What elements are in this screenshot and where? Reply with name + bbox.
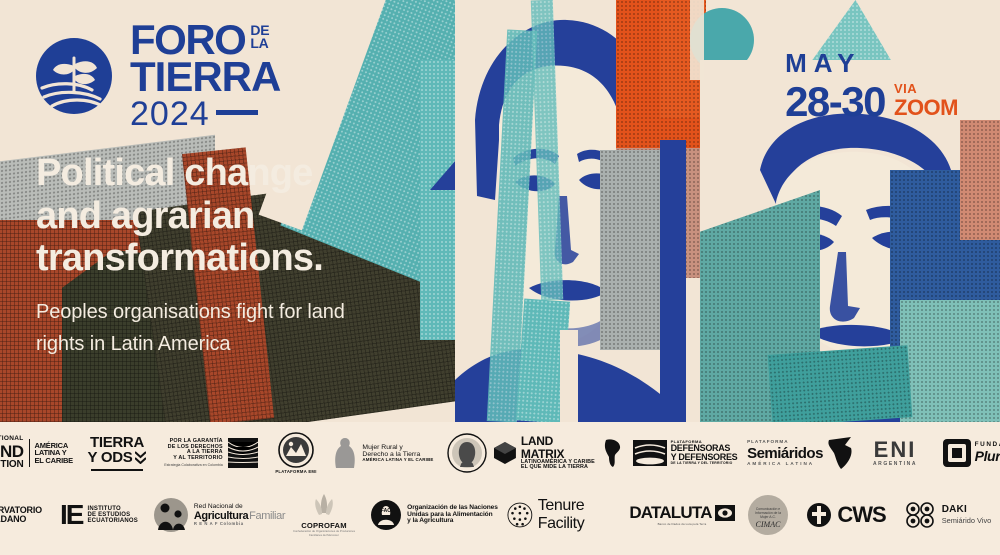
cube-icon [493, 441, 517, 465]
layered-land-icon [633, 440, 667, 466]
tenure-line-1: Tenure Facility [538, 497, 627, 533]
logo-dataluta: DATALUTA Banco de Dados da Luta pela Ter… [627, 504, 737, 525]
cws-line-1: CWS [837, 504, 885, 526]
partner-logo-bar: INTERNATIONAL LAND COALITION AMÉRICA LAT… [0, 422, 1000, 555]
logo-underline-dash [216, 110, 258, 115]
svg-text:CIMAC: CIMAC [756, 520, 782, 529]
logo-mujer-rural: Mujer Rural y Derecho a la Tierra AMÉRIC… [325, 435, 441, 471]
blue-column-mid [660, 140, 686, 422]
fao-emblem-icon: FAO [370, 499, 402, 531]
wheat-hands-icon [309, 493, 339, 521]
logo-land-matrix: LAND MATRIX LATINOAMÉRICA Y CARIBE EL QU… [493, 435, 625, 470]
svg-text:Mujer A.C.: Mujer A.C. [760, 515, 776, 519]
daki-line-1: DAKI [942, 505, 992, 515]
svg-text:FAO: FAO [381, 508, 391, 514]
logo-la: LA [250, 35, 268, 51]
fao-line-3: y la Agricultura [407, 518, 498, 525]
observatorio-line-2: CIUDADANO [0, 515, 42, 524]
logo-cws: CWS [799, 502, 893, 528]
logo-eni-argentina: ENI ARGENTINA [859, 439, 931, 467]
logo-de-la: DE LA [250, 22, 269, 51]
renaf-line-3: R E N A F Colombia [194, 522, 285, 526]
logo-fundacion-plurales: FUNDACIÓN Plurales [931, 439, 1000, 467]
teal-wedge-bottom-right [900, 300, 1000, 422]
subtitle-line-1: Peoples organisations fight for land [36, 296, 466, 328]
subtitle-line-2: rights in Latin America [36, 328, 466, 360]
coprofam-line-2: Confederación de Organizaciones de Produ… [289, 529, 359, 537]
event-poster: FORO DE LA TIERRA 2024 MAY 28-30 VIA ZOO… [0, 0, 1000, 555]
logo-circular-emblem [441, 433, 493, 473]
tierra-ods-line-2: Y ODS [88, 450, 133, 465]
south-america-arrow-icon [825, 436, 857, 470]
coprofam-line-1: COPROFAM [301, 522, 346, 530]
grey-block-right [600, 150, 660, 350]
semiaridos-line-1: Semiáridos [747, 445, 823, 462]
logo-daki-semiarido-vivo: DAKI Semiárido Vivo [893, 501, 1000, 529]
headline-block: Political change and agrarian transforma… [36, 152, 466, 360]
indigenous-woman-seal-icon [447, 433, 487, 473]
event-days: 28-30 [785, 82, 885, 122]
logo-year: 2024 [130, 97, 210, 131]
logo-observatorio-ciudadano: OBSERVATORIO CIUDADANO [0, 499, 47, 531]
emi-circle-emblem-icon [278, 432, 314, 468]
dataluta-line-1: DATALUTA [629, 504, 711, 521]
ilc-line-2: LAND [0, 443, 24, 460]
logo-tierra-y-ods: TIERRA Y ODS [79, 435, 155, 471]
plurales-line-2: Plurales [975, 448, 1000, 464]
event-platform-block: VIA ZOOM [894, 81, 958, 122]
family-circle-icon [153, 497, 189, 533]
renaf-line-2b: Familiar [249, 510, 285, 522]
partner-row-2: OBSERVATORIO CIUDADANO IE INSTITUTO DE E… [0, 484, 1000, 546]
dataluta-line-2: Banco de Dados da Luta pela Terra [658, 522, 707, 526]
event-platform: ZOOM [894, 95, 958, 120]
tierra-ods-line-1: TIERRA [90, 435, 144, 450]
radiating-lines-square-icon [228, 438, 258, 468]
eye-square-icon [715, 505, 735, 521]
headline-line-1: Political change [36, 152, 466, 195]
cimac-circle-icon: Comunicación e Información de la Mujer A… [747, 494, 789, 536]
ilc-side-3: EL CARIBE [35, 457, 73, 465]
chevrons-down-icon [135, 451, 146, 464]
event-month: MAY [785, 48, 958, 79]
ie-mark: IE [60, 501, 82, 530]
headline-line-3: transformations. [36, 237, 466, 280]
logo-international-land-coalition: INTERNATIONAL LAND COALITION AMÉRICA LAT… [0, 436, 79, 470]
cream-sliver-1 [560, 330, 578, 422]
logo-cimac: Comunicación e Información de la Mujer A… [737, 494, 799, 536]
eni-line-2: ARGENTINA [873, 462, 917, 467]
partner-row-1: INTERNATIONAL LAND COALITION AMÉRICA LAT… [0, 422, 1000, 484]
nested-squares-icon [943, 439, 971, 467]
garantia-line-5: Estrategia Colaborativa en Colombia [164, 463, 223, 467]
teal-wedge-bottom-mid [768, 345, 913, 422]
owl-faces-icon [905, 501, 937, 529]
logo-red-nacional-agricultura-familiar: Red Nacional de Agricultura Familiar R E… [151, 497, 287, 533]
cream-sliver-2 [690, 0, 704, 80]
renaf-line-1: Red Nacional de [194, 503, 285, 510]
eni-line-1: ENI [874, 439, 917, 461]
logo-tenure-facility: Tenure Facility [507, 497, 627, 533]
logo-coprofam: COPROFAM Confederación de Organizaciones… [287, 493, 361, 538]
subtitle: Peoples organisations fight for land rig… [36, 296, 466, 361]
logo-instituto-estudios-ecuatorianos: IE INSTITUTO DE ESTUDIOS ECUATORIANOS [47, 501, 151, 530]
daki-line-2: Semiárido Vivo [942, 516, 992, 525]
logo-wordmark: FORO DE LA TIERRA 2024 [130, 22, 280, 131]
mujer-line-1: Mujer Rural y [362, 444, 433, 451]
defensoras-line-3: DE LA TIERRA Y DEL TERRITORIO [671, 462, 738, 465]
logo-tierra: TIERRA [130, 58, 280, 97]
emi-label: PLATAFORMA EMI [275, 470, 316, 474]
logo-plataforma-defensoras: PLATAFORMA DEFENSORAS Y DEFENSORES DE LA… [625, 440, 745, 466]
woman-figure-icon [332, 435, 358, 471]
mujer-line-3: AMÉRICA LATINA Y EL CARIBE [362, 458, 433, 462]
ie-line-3: ECUATORIANOS [87, 518, 138, 524]
semiaridos-line-2: AMÉRICA LATINA [747, 462, 823, 467]
foro-de-la-tierra-logo: FORO DE LA TIERRA 2024 [34, 22, 280, 131]
page-title: Political change and agrarian transforma… [36, 152, 466, 280]
logo-por-la-garantia: POR LA GARANTÍA DE LOS DERECHOS A LA TIE… [155, 438, 267, 468]
garantia-line-4: Y AL TERRITORIO [164, 456, 223, 462]
headline-line-2: and agrarian [36, 195, 466, 238]
logo-plataforma-emi: PLATAFORMA EMI [267, 432, 325, 474]
latin-america-map-icon [603, 438, 625, 468]
ilc-line-3: COALITION [0, 460, 24, 470]
salmon-block-farright [960, 120, 1000, 240]
event-via-label: VIA [894, 81, 917, 96]
dotted-globe-icon [507, 501, 533, 529]
event-date-block: MAY 28-30 VIA ZOOM [785, 48, 958, 122]
logo-plataforma-semiaridos: PLATAFORMA Semiáridos AMÉRICA LATINA [745, 436, 859, 470]
landmatrix-line-3: EL QUE MIDE LA TIERRA [521, 465, 599, 471]
logo-fao: FAO Organización de las Naciones Unidas … [361, 499, 507, 531]
plant-sprout-field-icon [34, 36, 114, 116]
cross-circle-icon [806, 502, 832, 528]
landmatrix-line-1: LAND MATRIX [521, 435, 599, 459]
